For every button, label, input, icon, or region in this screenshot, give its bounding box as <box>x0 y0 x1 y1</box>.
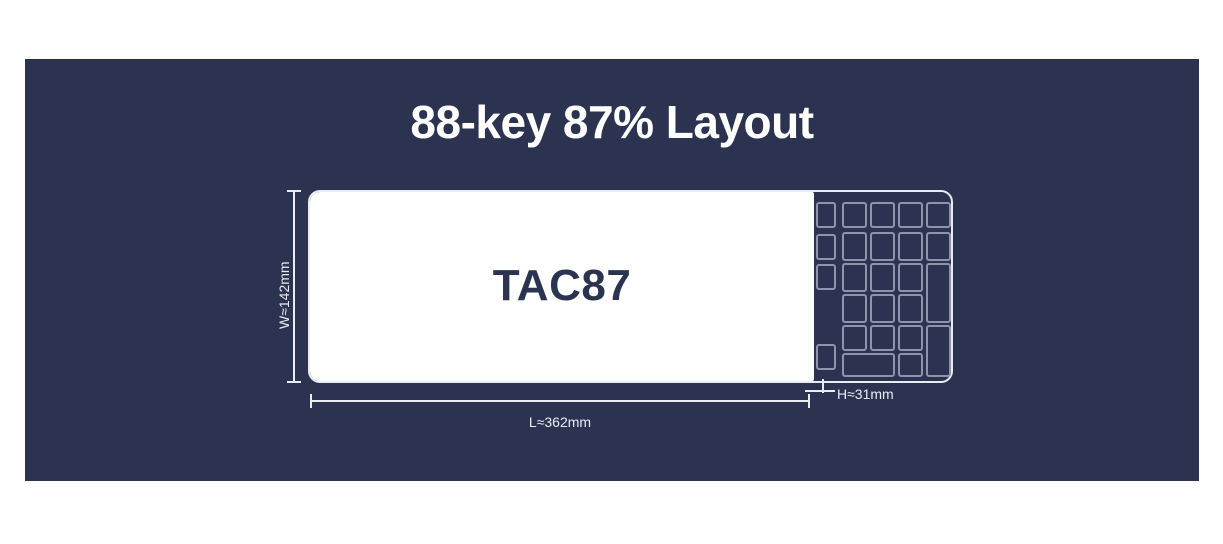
key-tall <box>926 325 951 377</box>
length-dimension-cap-right <box>808 394 810 408</box>
key <box>842 325 867 351</box>
width-dimension-label: W≈142mm <box>277 261 291 329</box>
key <box>816 344 836 370</box>
key <box>816 264 836 290</box>
width-dimension-cap-bottom <box>287 381 301 383</box>
key-wide <box>842 353 895 377</box>
key <box>870 294 895 323</box>
screenshot-root: 88-key 87% Layout W≈142mm TAC87 <box>0 0 1223 544</box>
length-dimension-line <box>310 400 810 402</box>
key-cluster <box>814 192 955 381</box>
key <box>898 294 923 323</box>
height-dimension-label: H≈31mm <box>837 387 894 401</box>
key <box>898 263 923 292</box>
key <box>870 325 895 351</box>
length-dimension-cap-left <box>310 394 312 408</box>
key <box>842 232 867 261</box>
layout-spec-card: 88-key 87% Layout W≈142mm TAC87 <box>25 59 1199 481</box>
width-dimension-cap-top <box>287 190 301 192</box>
key <box>842 202 867 228</box>
key <box>870 202 895 228</box>
length-dimension-label: L≈362mm <box>25 415 1095 429</box>
key <box>842 294 867 323</box>
product-model-label: TAC87 <box>310 264 814 308</box>
key <box>898 232 923 261</box>
width-dimension-line <box>293 190 295 383</box>
key <box>898 353 923 377</box>
key <box>870 263 895 292</box>
key <box>816 234 836 260</box>
keyboard-outline: TAC87 <box>308 190 953 383</box>
keyboard-diagram: W≈142mm TAC87 <box>25 59 1199 481</box>
key <box>870 232 895 261</box>
key-tall <box>926 263 951 323</box>
key <box>842 263 867 292</box>
height-dimension-tick <box>822 379 824 393</box>
key <box>926 202 951 228</box>
height-dimension-bracket-bottom <box>805 390 835 392</box>
key <box>898 202 923 228</box>
key <box>926 232 951 261</box>
key <box>898 325 923 351</box>
keyboard-body-plate: TAC87 <box>310 192 814 381</box>
key <box>816 202 836 228</box>
